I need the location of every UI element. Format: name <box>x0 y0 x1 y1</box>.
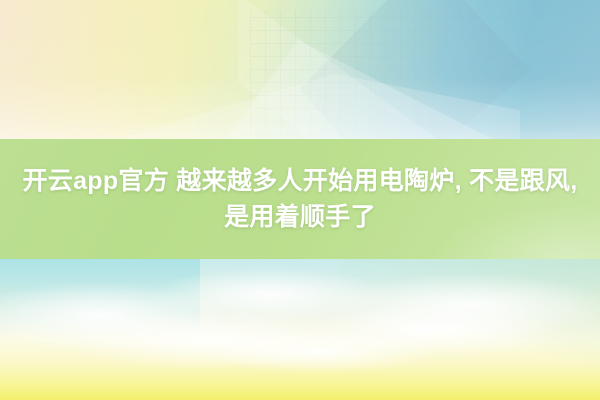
title-band: 开云app官方 越来越多人开始用电陶炉, 不是跟风, 是用着顺手了 <box>0 139 600 259</box>
page-title: 开云app官方 越来越多人开始用电陶炉, 不是跟风, 是用着顺手了 <box>10 163 590 236</box>
top-fade-overlay <box>0 0 600 140</box>
bottom-right-tint <box>340 259 600 400</box>
top-gradient-panel <box>0 0 600 140</box>
article-header-banner: 开云app官方 越来越多人开始用电陶炉, 不是跟风, 是用着顺手了 <box>0 0 600 400</box>
bottom-gradient-panel <box>0 259 600 400</box>
cloud-2-shape <box>150 267 390 322</box>
cloud-3-shape <box>330 273 600 339</box>
cloud-5-shape <box>300 305 560 357</box>
cloud-4-shape <box>60 311 360 369</box>
cloud-1-shape <box>0 281 230 351</box>
bottom-left-tint <box>0 259 200 400</box>
cloud-6-shape <box>200 329 440 373</box>
